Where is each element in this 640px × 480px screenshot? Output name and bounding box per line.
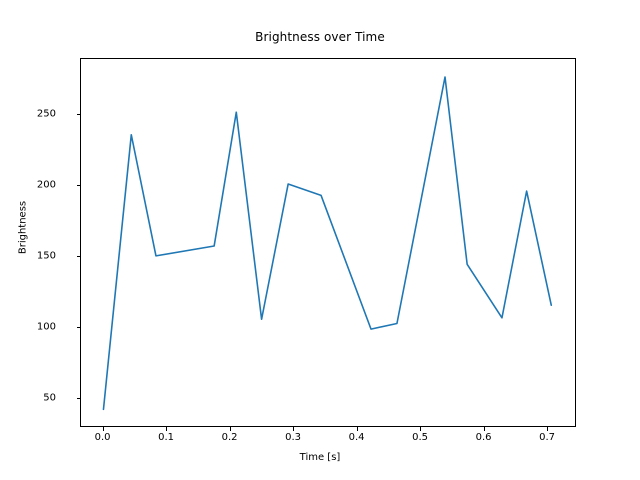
x-tick-label: 0.4 <box>349 432 365 443</box>
x-tick-label: 0.7 <box>539 432 555 443</box>
data-series-line <box>103 77 551 409</box>
plot-area <box>80 58 576 427</box>
x-tick-mark <box>293 427 294 431</box>
y-tick-label: 250 <box>37 109 56 120</box>
x-tick-mark <box>357 427 358 431</box>
x-tick-mark <box>230 427 231 431</box>
x-axis-label: Time [s] <box>0 452 640 463</box>
y-tick-label: 100 <box>37 321 56 332</box>
x-tick-mark <box>547 427 548 431</box>
y-tick-label: 200 <box>37 180 56 191</box>
y-tick-label: 50 <box>43 392 56 403</box>
y-tick-label: 150 <box>37 250 56 261</box>
x-tick-mark <box>420 427 421 431</box>
x-tick-label: 0.2 <box>222 432 238 443</box>
line-plot-svg <box>81 59 575 426</box>
x-tick-label: 0.1 <box>158 432 174 443</box>
x-tick-label: 0.3 <box>285 432 301 443</box>
y-axis-label: Brightness <box>18 68 29 388</box>
x-tick-label: 0.5 <box>412 432 428 443</box>
x-tick-label: 0.0 <box>95 432 111 443</box>
x-tick-mark <box>103 427 104 431</box>
x-tick-mark <box>484 427 485 431</box>
x-tick-mark <box>166 427 167 431</box>
x-tick-label: 0.6 <box>476 432 492 443</box>
matplotlib-figure: Brightness over Time Brightness Time [s]… <box>0 0 640 480</box>
chart-title: Brightness over Time <box>0 30 640 44</box>
